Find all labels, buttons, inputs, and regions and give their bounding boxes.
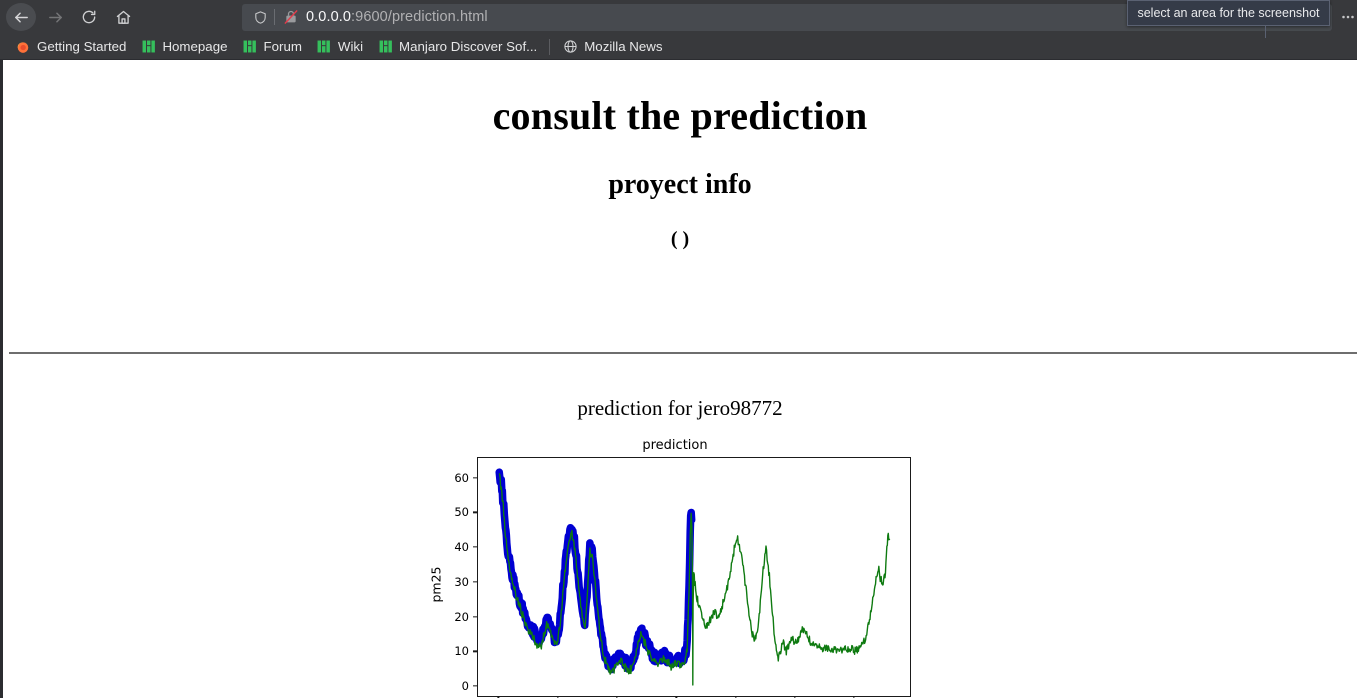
plot-area	[477, 457, 911, 697]
series-prediction	[499, 473, 889, 685]
firefox-icon	[15, 39, 31, 55]
chart-caption: prediction for jero98772	[3, 396, 1357, 421]
reload-button[interactable]	[74, 3, 104, 31]
back-button[interactable]	[6, 3, 36, 31]
manjaro-icon	[377, 39, 393, 55]
bookmark-forum[interactable]: Forum	[235, 36, 309, 58]
y-tick-label: 20	[429, 610, 469, 624]
x-tick-mark	[557, 697, 558, 698]
bookmark-manjaro-discover[interactable]: Manjaro Discover Sof...	[370, 36, 544, 58]
x-tick-mark	[794, 697, 795, 698]
y-tick-label: 0	[429, 679, 469, 693]
navigation-toolbar: 0.0.0.0:9600/prediction.html	[0, 0, 1357, 34]
y-tick-label: 10	[429, 644, 469, 658]
bookmarks-separator	[549, 39, 550, 55]
y-tick-label: 40	[429, 540, 469, 554]
bookmark-label: Wiki	[338, 39, 363, 54]
bookmark-label: Manjaro Discover Sof...	[399, 39, 537, 54]
manjaro-icon	[242, 39, 258, 55]
manjaro-icon	[140, 39, 156, 55]
manjaro-icon	[316, 39, 332, 55]
chart-title: prediction	[440, 438, 910, 453]
more-options-icon[interactable]	[1333, 3, 1357, 31]
x-tick-mark	[616, 697, 617, 698]
x-tick-mark	[498, 697, 499, 698]
forward-button[interactable]	[40, 3, 70, 31]
url-text[interactable]: 0.0.0.0:9600/prediction.html	[306, 9, 488, 25]
globe-icon	[562, 39, 578, 55]
page-subtitle: proyect info	[3, 139, 1357, 201]
insecure-lock-slash-icon[interactable]	[281, 9, 301, 25]
url-host: 0.0.0.0	[306, 9, 351, 25]
bookmark-wiki[interactable]: Wiki	[309, 36, 370, 58]
x-tick-mark	[735, 697, 736, 698]
y-tick-label: 60	[429, 471, 469, 485]
plot-svg	[478, 458, 910, 696]
page-title: consult the prediction	[3, 60, 1357, 139]
series-real	[499, 472, 691, 669]
url-path: :9600/prediction.html	[351, 9, 488, 25]
bookmark-mozilla-news[interactable]: Mozilla News	[555, 36, 669, 58]
bookmark-getting-started[interactable]: Getting Started	[8, 36, 133, 58]
section-divider	[9, 352, 1357, 354]
bookmarks-toolbar: Getting Started Homepage	[0, 34, 1357, 60]
bookmark-homepage[interactable]: Homepage	[133, 36, 234, 58]
bookmark-label: Forum	[264, 39, 302, 54]
bookmark-label: Getting Started	[37, 39, 126, 54]
prediction-chart-figure: prediction pm25 time (as amout of data) …	[440, 432, 940, 698]
urlbar-divider	[274, 9, 275, 25]
project-info-value: ( )	[3, 201, 1357, 251]
home-button[interactable]	[108, 3, 138, 31]
x-tick-mark	[853, 697, 854, 698]
screenshot-tooltip: select an area for the screenshot	[1127, 0, 1330, 26]
bookmark-label: Homepage	[162, 39, 227, 54]
x-tick-mark	[676, 697, 677, 698]
page-content: consult the prediction proyect info ( ) …	[0, 60, 1357, 698]
browser-chrome: 0.0.0.0:9600/prediction.html	[0, 0, 1357, 60]
bookmark-label: Mozilla News	[584, 39, 662, 54]
toolbar-right-icons	[1332, 3, 1357, 31]
y-tick-label: 50	[429, 505, 469, 519]
shield-icon[interactable]	[249, 10, 271, 25]
y-tick-label: 30	[429, 575, 469, 589]
tooltip-stem	[1265, 26, 1266, 38]
